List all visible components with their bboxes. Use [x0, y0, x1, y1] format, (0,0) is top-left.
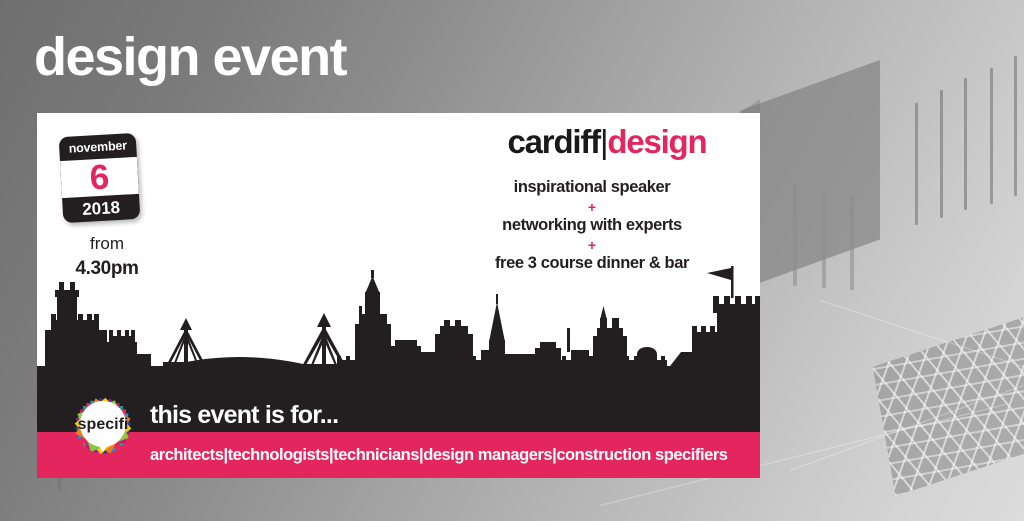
feature-plus-1: + — [437, 200, 747, 214]
vertical-slat — [990, 68, 993, 204]
audience-list: architects|technologists|technicians|des… — [150, 446, 728, 465]
feature-plus-2: + — [437, 238, 747, 252]
hexagon-pattern-band — [868, 304, 1024, 496]
calendar-day: 6 — [89, 159, 110, 195]
render-column — [822, 190, 826, 288]
time-from-label: from — [55, 233, 159, 255]
render-column — [850, 196, 854, 290]
cardiff-design-logo: cardiff|design — [467, 125, 747, 158]
feature-line-2: networking with experts — [437, 214, 747, 238]
perspective-floor-line — [790, 367, 1024, 471]
feature-line-1: inspirational speaker — [437, 176, 747, 200]
event-flyer-card: november 6 2018 from 4.30pm cardiff|desi… — [37, 113, 760, 478]
specifi-logo: specifi — [57, 380, 149, 472]
page-title: design event — [34, 30, 346, 84]
perspective-floor-line — [820, 300, 1024, 381]
render-column — [793, 182, 797, 286]
calendar-day-wrapper: 6 — [60, 157, 139, 198]
this-event-is-for-label: this event is for... — [150, 403, 338, 428]
vertical-slat — [915, 103, 918, 225]
brand-word-cardiff: cardiff — [508, 123, 600, 160]
vertical-slat — [940, 90, 943, 218]
cardiff-skyline-silhouette — [37, 258, 760, 388]
flyer-canvas: design event november 6 2018 from 4.30pm… — [0, 0, 1024, 521]
render-panel — [740, 60, 880, 290]
calendar-year: 2018 — [62, 194, 140, 223]
vertical-slat — [1014, 56, 1017, 196]
calendar-date-badge: november 6 2018 — [59, 133, 141, 223]
vertical-slat — [964, 78, 967, 210]
specifi-wordmark: specifi — [78, 416, 129, 433]
brand-word-design: design — [607, 123, 706, 160]
